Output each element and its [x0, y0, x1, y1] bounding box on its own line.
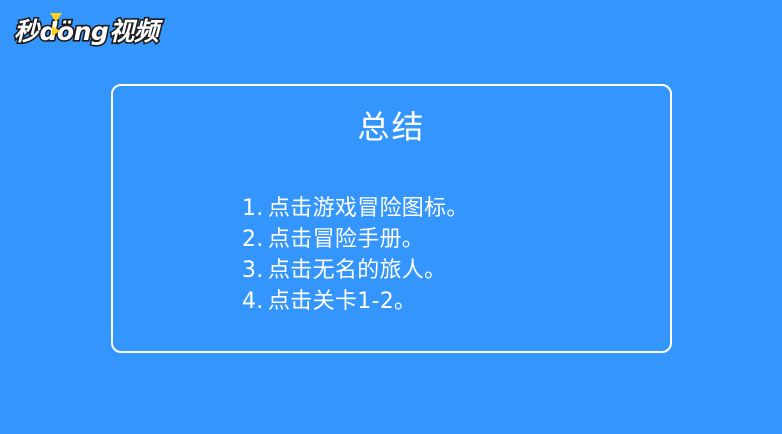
step-text: 点击冒险手册。	[268, 227, 424, 252]
summary-card: 总结 1.点击游戏冒险图标。 2.点击冒险手册。 3.点击无名的旅人。 4.点击…	[111, 84, 672, 353]
step-number: 4.	[242, 286, 268, 317]
step-number: 3.	[242, 255, 268, 286]
step-text: 点击游戏冒险图标。	[268, 196, 469, 221]
list-item: 1.点击游戏冒险图标。	[242, 193, 469, 224]
step-number: 1.	[242, 193, 268, 224]
list-item: 4.点击关卡1-2。	[242, 286, 469, 317]
play-button-icon	[52, 26, 60, 36]
video-slide-screen: 秒döng视频 总结 1.点击游戏冒险图标。 2.点击冒险手册。 3.点击无名的…	[0, 0, 782, 434]
play-triangle-icon	[50, 13, 62, 22]
watermark-text: 秒döng视频	[14, 19, 158, 44]
list-item: 2.点击冒险手册。	[242, 224, 469, 255]
watermark-logo: 秒döng视频	[14, 16, 158, 46]
page-title: 总结	[113, 108, 670, 146]
step-number: 2.	[242, 224, 268, 255]
summary-steps-list: 1.点击游戏冒险图标。 2.点击冒险手册。 3.点击无名的旅人。 4.点击关卡1…	[242, 193, 469, 317]
watermark-text-suffix: 视频	[109, 17, 158, 46]
watermark-text-prefix: 秒	[14, 17, 39, 46]
step-text: 点击无名的旅人。	[268, 258, 446, 283]
list-item: 3.点击无名的旅人。	[242, 255, 469, 286]
watermark-text-middle: döng	[39, 17, 110, 46]
step-text: 点击关卡1-2。	[268, 289, 416, 314]
